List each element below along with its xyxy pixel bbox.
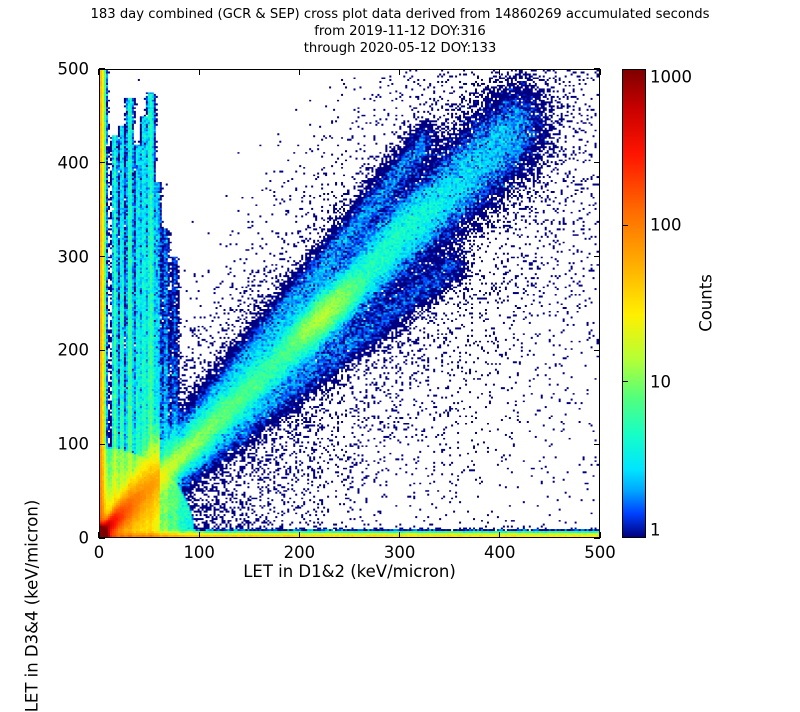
y-tick-right-200 xyxy=(594,350,600,351)
y-tick-label-300: 300 xyxy=(0,247,89,266)
y-tick-label-400: 400 xyxy=(0,153,89,172)
x-tick-top-400 xyxy=(499,69,500,75)
x-tick-top-100 xyxy=(199,69,200,75)
x-tick-300 xyxy=(399,532,400,538)
colorbar-tick-label-100: 100 xyxy=(650,216,682,235)
chart-title-line-3: through 2020-05-12 DOY:133 xyxy=(0,40,800,57)
x-tick-label-300: 300 xyxy=(384,543,416,562)
x-tick-top-0 xyxy=(98,69,99,75)
colorbar-tick-label-10: 10 xyxy=(650,372,671,391)
colorbar-tick-100 xyxy=(622,225,628,226)
y-axis-title: LET in D3&4 (keV/micron) xyxy=(23,500,42,712)
y-tick-label-100: 100 xyxy=(0,435,89,454)
y-tick-label-500: 500 xyxy=(0,60,89,79)
x-tick-label-500: 500 xyxy=(584,543,616,562)
y-tick-right-100 xyxy=(594,444,600,445)
y-tick-100 xyxy=(99,444,105,445)
y-tick-400 xyxy=(99,162,105,163)
x-tick-label-200: 200 xyxy=(284,543,316,562)
x-tick-top-500 xyxy=(599,69,600,75)
x-tick-top-200 xyxy=(299,69,300,75)
y-tick-0 xyxy=(99,537,105,538)
y-tick-right-300 xyxy=(594,256,600,257)
x-tick-100 xyxy=(199,532,200,538)
colorbar-gradient xyxy=(623,70,645,537)
x-tick-200 xyxy=(299,532,300,538)
x-axis-title: LET in D1&2 (keV/micron) xyxy=(99,562,600,581)
colorbar-tick-label-1000: 1000 xyxy=(650,68,692,87)
colorbar xyxy=(622,69,646,538)
y-tick-right-400 xyxy=(594,162,600,163)
scatter-plot-area xyxy=(99,69,600,538)
chart-title-line-1: 183 day combined (GCR & SEP) cross plot … xyxy=(0,6,800,23)
colorbar-tick-10 xyxy=(622,381,628,382)
chart-title: 183 day combined (GCR & SEP) cross plot … xyxy=(0,6,800,57)
x-tick-400 xyxy=(499,532,500,538)
x-tick-label-400: 400 xyxy=(484,543,516,562)
y-tick-500 xyxy=(99,68,105,69)
y-tick-label-0: 0 xyxy=(0,529,89,548)
x-tick-label-100: 100 xyxy=(183,543,215,562)
y-tick-200 xyxy=(99,350,105,351)
scatter-density-canvas xyxy=(100,70,599,537)
chart-title-line-2: from 2019-11-12 DOY:316 xyxy=(0,23,800,40)
x-tick-label-0: 0 xyxy=(94,543,105,562)
y-tick-label-200: 200 xyxy=(0,341,89,360)
x-tick-top-300 xyxy=(399,69,400,75)
y-tick-300 xyxy=(99,256,105,257)
y-tick-right-0 xyxy=(594,537,600,538)
colorbar-title: Counts xyxy=(697,274,716,332)
colorbar-tick-label-1: 1 xyxy=(650,521,661,540)
y-tick-right-500 xyxy=(594,68,600,69)
